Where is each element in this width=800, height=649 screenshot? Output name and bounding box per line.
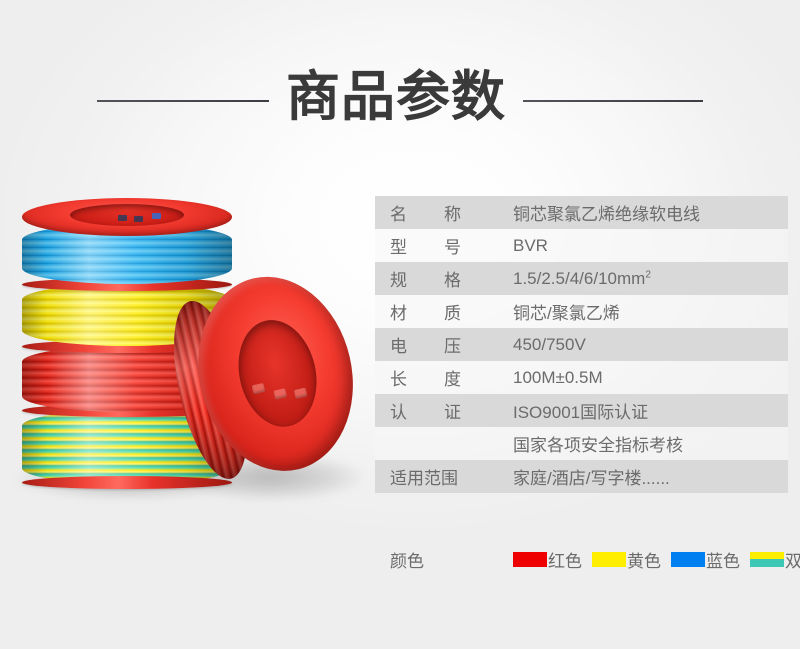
spec-row-label: 规格: [375, 266, 513, 291]
color-swatch-item[interactable]: 蓝色: [671, 547, 740, 572]
hole-tab-1: [118, 215, 127, 221]
spec-row: 认证ISO9001国际认证: [375, 394, 788, 427]
side-notch-1: [252, 383, 266, 394]
spec-row: 名称铜芯聚氯乙烯绝缘软电线: [375, 196, 788, 229]
header-rule-left: [97, 100, 269, 102]
color-swatch: [592, 552, 626, 567]
color-swatch-label: 红色: [548, 547, 582, 572]
dual-swatch-bottom: [750, 559, 784, 567]
spec-label-char-a: 型: [390, 233, 407, 258]
color-row-wrapper: 颜色 红色黄色蓝色双色: [375, 534, 788, 579]
spec-row-label: 长度: [375, 365, 513, 390]
spec-label-char-b: 度: [444, 365, 461, 390]
color-swatch-item[interactable]: 双色: [750, 547, 800, 572]
product-photo: [0, 178, 360, 538]
spec-label-char-b: 质: [444, 299, 461, 324]
spec-row-label: 材质: [375, 299, 513, 324]
spec-row: 型号BVR: [375, 229, 788, 262]
spec-row-value-text: 450/750V: [513, 335, 586, 354]
color-swatch-list: 红色黄色蓝色双色: [513, 547, 800, 572]
spec-label-char-b: 压: [444, 332, 461, 357]
spec-label-char-b: 证: [444, 398, 461, 423]
spec-row-value-text: 国家各项安全指标考核: [513, 436, 683, 455]
spec-row-value: 国家各项安全指标考核: [513, 431, 788, 456]
spec-row: 电压450/750V: [375, 328, 788, 361]
spec-row-value-text: BVR: [513, 236, 548, 255]
color-row-label: 颜色: [375, 547, 513, 572]
spec-label-char-b: 称: [444, 200, 461, 225]
spec-row-value-superscript: 2: [645, 269, 651, 280]
spec-row: 材质铜芯/聚氯乙烯: [375, 295, 788, 328]
dual-swatch-top: [750, 552, 784, 560]
spec-row-value: 铜芯/聚氯乙烯: [513, 299, 788, 324]
spec-label-char-a: 认: [390, 398, 407, 423]
color-swatch-label: 双色: [785, 547, 800, 572]
spec-row-value: 家庭/酒店/写字楼......: [513, 464, 788, 489]
side-spool-inner-hole: [228, 312, 326, 434]
color-swatch-item[interactable]: 红色: [513, 547, 582, 572]
spec-row-value-text: 家庭/酒店/写字楼......: [513, 469, 670, 488]
spec-row: 长度100M±0.5M: [375, 361, 788, 394]
spec-row-label: 适用范围: [375, 464, 513, 489]
spec-row-value: 100M±0.5M: [513, 368, 788, 388]
spec-label-char-a: 规: [390, 266, 407, 291]
spec-row: 规格1.5/2.5/4/6/10mm2: [375, 262, 788, 295]
spec-row-value-text: 1.5/2.5/4/6/10mm: [513, 269, 645, 288]
spec-row-value-text: 铜芯聚氯乙烯绝缘软电线: [513, 205, 700, 224]
color-swatch-label: 蓝色: [706, 547, 740, 572]
spec-row-label: 电压: [375, 332, 513, 357]
page-header: 商品参数: [0, 58, 800, 144]
color-swatch: [513, 552, 547, 567]
spec-row-label: 名称: [375, 200, 513, 225]
spec-row-value-text: 铜芯/聚氯乙烯: [513, 304, 620, 323]
header-rule-right: [523, 100, 703, 102]
spec-row-value: BVR: [513, 236, 788, 256]
page-title: 商品参数: [269, 70, 523, 132]
spec-row-value: ISO9001国际认证: [513, 398, 788, 423]
spec-row-value-text: 100M±0.5M: [513, 368, 603, 387]
spec-row-value: 450/750V: [513, 335, 788, 355]
spec-row: 国家各项安全指标考核: [375, 427, 788, 460]
hole-tab-3: [152, 213, 161, 219]
color-row: 颜色 红色黄色蓝色双色: [375, 539, 788, 579]
spool-top-hole: [70, 204, 184, 226]
spec-row-label: 认证: [375, 398, 513, 423]
spec-row: 适用范围家庭/酒店/写字楼......: [375, 460, 788, 493]
dual-color-swatch: [750, 552, 784, 567]
spec-label-char-a: 长: [390, 365, 407, 390]
spec-row-value-text: ISO9001国际认证: [513, 403, 648, 422]
spec-row-value: 1.5/2.5/4/6/10mm2: [513, 269, 788, 289]
spec-row-value: 铜芯聚氯乙烯绝缘软电线: [513, 200, 788, 225]
color-swatch: [671, 552, 705, 567]
color-swatch-label: 黄色: [627, 547, 661, 572]
spec-label-char-a: 材: [390, 299, 407, 324]
spec-label-char-a: 名: [390, 200, 407, 225]
spec-row-label: 型号: [375, 233, 513, 258]
side-notch-2: [273, 388, 287, 399]
product-parameters-page: 商品参数: [0, 0, 800, 649]
spec-table: 名称铜芯聚氯乙烯绝缘软电线型号BVR规格1.5/2.5/4/6/10mm2材质铜…: [375, 196, 788, 493]
spec-label-char-b: 格: [444, 266, 461, 291]
side-notch-3: [294, 388, 308, 399]
spec-label-char-a: 电: [390, 332, 407, 357]
spec-label-char-b: 号: [444, 233, 461, 258]
color-swatch-item[interactable]: 黄色: [592, 547, 661, 572]
hole-tab-2: [134, 216, 143, 222]
